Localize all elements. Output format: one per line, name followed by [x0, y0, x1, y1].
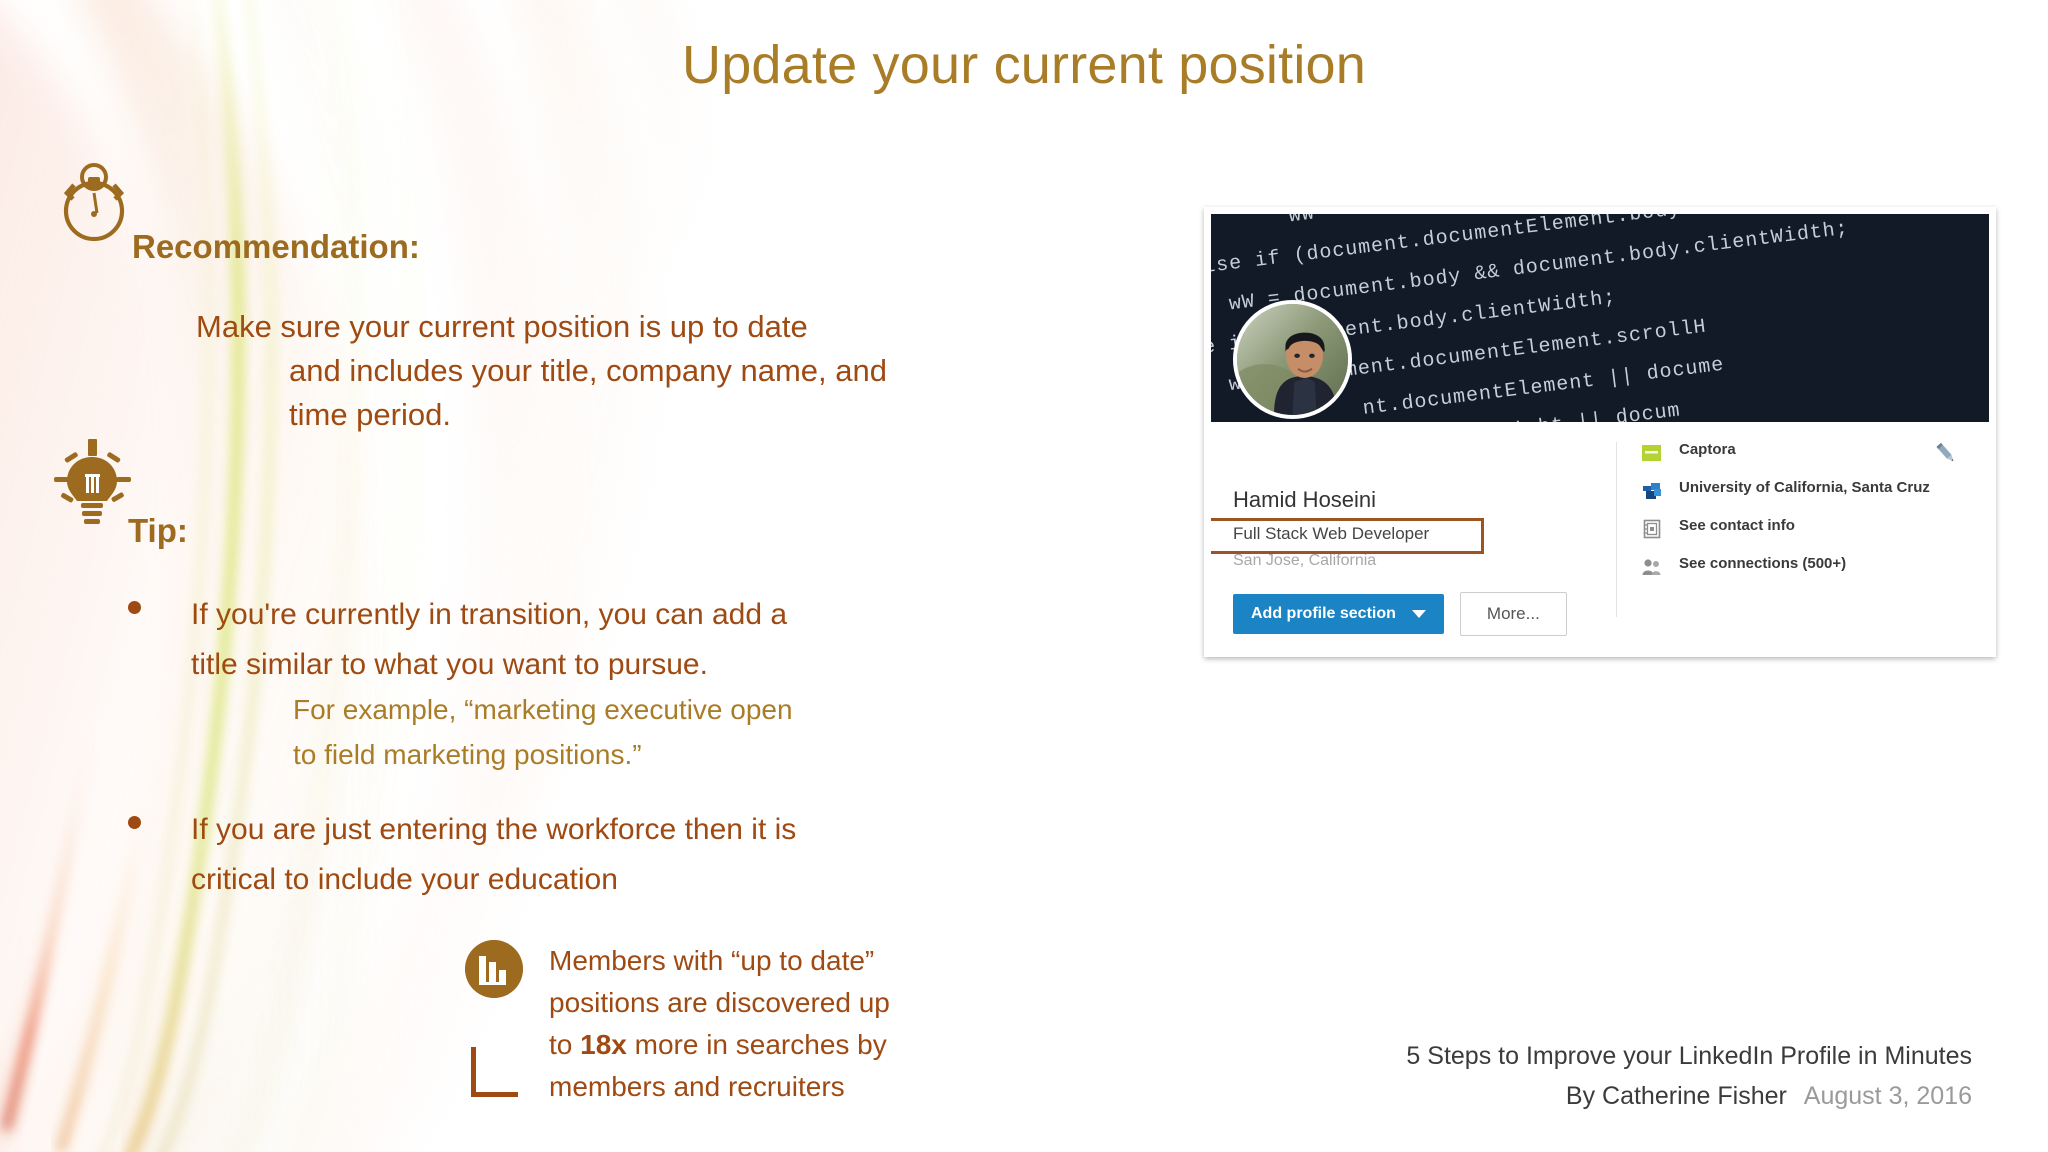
recommendation-heading: Recommendation:: [132, 228, 420, 266]
side-item-contact-info[interactable]: See contact info: [1641, 516, 1971, 540]
profile-side-list: Captora University of California, Santa …: [1641, 440, 1971, 592]
footer-date: August 3, 2016: [1804, 1082, 1972, 1110]
footer: 5 Steps to Improve your LinkedIn Profile…: [1406, 1036, 1972, 1116]
side-item-label: See contact info: [1679, 516, 1795, 535]
avatar-photo: [1237, 304, 1348, 415]
tip-example-line-1: For example, “marketing executive open: [293, 687, 913, 732]
stopwatch-icon: [52, 155, 136, 247]
tip-example-line-2: to field marketing positions.”: [293, 732, 913, 777]
bar-chart-icon: [465, 940, 523, 998]
tip-heading: Tip:: [128, 512, 188, 550]
lightbulb-icon: [48, 437, 136, 529]
bullet-dot-icon: [128, 816, 141, 829]
stat-line-3-post: more in searches by: [627, 1029, 887, 1060]
side-item-captora[interactable]: Captora: [1641, 440, 1971, 464]
tip-bullet-1: If you're currently in transition, you c…: [128, 590, 928, 690]
recommendation-body: Make sure your current position is up to…: [196, 305, 956, 437]
tip-bullet-2: If you are just entering the workforce t…: [128, 805, 928, 905]
footer-author: By Catherine Fisher: [1566, 1082, 1787, 1110]
avatar[interactable]: [1233, 300, 1352, 419]
recommendation-line-3: time period.: [196, 393, 956, 437]
chevron-down-icon: [1412, 610, 1426, 618]
side-item-label: Captora: [1679, 440, 1736, 459]
linkedin-profile-card: wW = document.do} else if (document.docu…: [1204, 207, 1996, 657]
side-item-connections[interactable]: See connections (500+): [1641, 554, 1971, 578]
captora-logo-icon: [1641, 442, 1663, 464]
stat-line-4: members and recruiters: [549, 1066, 935, 1108]
tip-bullet-2-line-1: If you are just entering the workforce t…: [191, 805, 928, 855]
stat-line-2: positions are discovered up: [549, 982, 935, 1024]
add-profile-section-label: Add profile section: [1251, 605, 1396, 623]
tip-example: For example, “marketing executive open t…: [293, 687, 913, 777]
stat-callout: Members with “up to date” positions are …: [465, 940, 935, 1108]
connections-icon: [1641, 556, 1663, 578]
corner-bracket-decoration: [471, 1047, 518, 1097]
profile-headline: Full Stack Web Developer: [1233, 524, 1429, 544]
stat-line-3-pre: to: [549, 1029, 580, 1060]
side-item-label: See connections (500+): [1679, 554, 1846, 573]
tip-bullet-1-line-2: title similar to what you want to pursue…: [191, 640, 928, 690]
profile-location: San Jose, California: [1233, 552, 1376, 570]
card-divider: [1616, 442, 1617, 617]
profile-action-buttons: Add profile section More...: [1233, 592, 1567, 636]
footer-byline: By Catherine Fisher August 3, 2016: [1406, 1076, 1972, 1116]
profile-card-body: Hamid Hoseini Full Stack Web Developer S…: [1211, 422, 1989, 649]
contact-card-icon: [1641, 518, 1663, 540]
profile-name: Hamid Hoseini: [1233, 487, 1376, 513]
stat-multiplier: 18x: [580, 1029, 627, 1060]
recommendation-line-2: and includes your title, company name, a…: [196, 349, 956, 393]
side-item-label: University of California, Santa Cruz: [1679, 478, 1930, 497]
side-item-university[interactable]: University of California, Santa Cruz: [1641, 478, 1971, 502]
add-profile-section-button[interactable]: Add profile section: [1233, 594, 1444, 634]
recommendation-line-1: Make sure your current position is up to…: [196, 309, 808, 344]
stat-line-1: Members with “up to date”: [549, 940, 935, 982]
tip-bullet-2-line-2: critical to include your education: [191, 855, 928, 905]
university-logo-icon: [1641, 480, 1663, 502]
bullet-dot-icon: [128, 601, 141, 614]
footer-source-title: 5 Steps to Improve your LinkedIn Profile…: [1406, 1036, 1972, 1076]
more-button[interactable]: More...: [1460, 592, 1567, 636]
stat-line-3: to 18x more in searches by: [549, 1024, 935, 1066]
tip-bullet-1-line-1: If you're currently in transition, you c…: [191, 590, 928, 640]
